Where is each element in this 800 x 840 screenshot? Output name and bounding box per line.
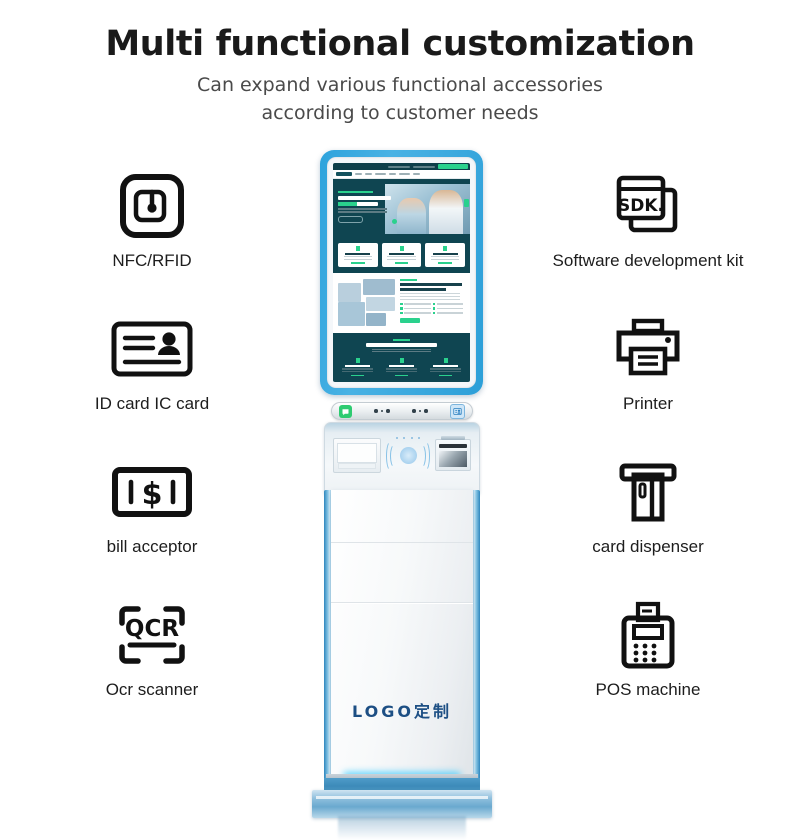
hero-paragraph: [338, 208, 387, 210]
card-title: [389, 253, 414, 255]
feature-label: Ocr scanner: [106, 680, 199, 700]
kiosk-body-panel: LOGO定制: [331, 490, 473, 786]
kiosk-floor-plate: [312, 790, 492, 818]
right-feature-column: SDK. Software development kit Printer: [518, 165, 778, 737]
nav-item[interactable]: [389, 173, 396, 175]
footer-col-text: [342, 371, 372, 372]
feature-label: Software development kit: [553, 251, 744, 271]
kiosk-reflection: [338, 816, 466, 840]
footer-icon: [444, 358, 448, 363]
status-dot: [374, 409, 378, 413]
feature-card[interactable]: [382, 243, 422, 267]
checklist-item: [400, 303, 430, 306]
about-cta-button[interactable]: [400, 318, 419, 323]
kiosk-control-bar: [331, 402, 473, 420]
feature-label: card dispenser: [592, 537, 704, 557]
hero-play-dot[interactable]: [392, 219, 397, 224]
footer-col-link[interactable]: [439, 375, 452, 377]
site-footer-section: [333, 333, 470, 382]
scan-indicator-icon[interactable]: [339, 405, 352, 418]
footer-col-text: [430, 368, 460, 369]
left-feature-column: NFC/RFID ID card IC card: [22, 165, 282, 737]
about-checklist: [400, 303, 465, 315]
card-text: [387, 259, 416, 260]
feature-label: ID card IC card: [95, 394, 209, 414]
site-hero-section: [333, 179, 470, 239]
kiosk-logo-text: LOGO定制: [331, 698, 473, 722]
nfc-core: [400, 447, 417, 464]
about-paragraph: [400, 299, 459, 300]
id-card-icon: [109, 308, 195, 390]
footer-paragraph: [372, 351, 430, 352]
nav-item[interactable]: [413, 173, 420, 175]
card-title: [345, 253, 370, 255]
sdk-icon: SDK.: [609, 165, 687, 247]
nfc-ticks: [396, 437, 420, 439]
card-link[interactable]: [438, 262, 452, 264]
feature-card[interactable]: [338, 243, 378, 267]
topbar-text: [388, 166, 410, 168]
feature-card-dispenser: card dispenser: [518, 451, 778, 594]
about-heading: [400, 283, 461, 287]
footer-kicker: [393, 339, 411, 341]
nfc-wave: [421, 441, 430, 471]
subtitle-line-2: according to customer needs: [261, 102, 538, 124]
card-icon: [356, 246, 360, 251]
status-dot: [412, 409, 416, 413]
footer-column[interactable]: [338, 358, 377, 376]
pos-machine-icon: [611, 594, 685, 676]
page-subtitle: Can expand various functional accessorie…: [0, 72, 800, 127]
site-nav: [333, 170, 470, 179]
feature-bill-acceptor: $ bill acceptor: [22, 451, 282, 594]
hero-heading-line-1: [338, 196, 391, 200]
nav-item[interactable]: [375, 173, 386, 175]
floor-highlight: [316, 796, 488, 799]
poster-canvas: Multi functional customization Can expan…: [0, 0, 800, 800]
card-link[interactable]: [395, 262, 409, 264]
footer-column[interactable]: [426, 358, 465, 376]
hero-cta-button[interactable]: [338, 216, 363, 223]
footer-heading: [366, 343, 437, 347]
checklist-item: [433, 312, 463, 315]
footer-col-text: [386, 371, 416, 372]
sdk-glyph-text: SDK.: [618, 196, 664, 216]
body-seam: [331, 542, 473, 543]
about-text-block: [400, 279, 465, 327]
dollar-glyph: $: [142, 477, 163, 512]
card-dispenser-icon: [611, 451, 685, 533]
header: Multi functional customization Can expan…: [0, 24, 800, 127]
feature-sdk: SDK. Software development kit: [518, 165, 778, 308]
hero-text-block: [338, 191, 396, 223]
kiosk-device: LOGO定制: [312, 150, 492, 800]
footer-col-link[interactable]: [351, 375, 364, 377]
page-title: Multi functional customization: [0, 24, 800, 64]
footer-icon: [400, 358, 404, 363]
site-feature-cards: [333, 239, 470, 273]
about-paragraph: [400, 296, 459, 297]
nfc-rfid-icon: [116, 165, 188, 247]
checklist-item: [400, 307, 430, 310]
card-text: [387, 256, 416, 257]
status-dot: [386, 409, 390, 413]
feature-label: Printer: [623, 394, 673, 414]
card-icon: [400, 246, 404, 251]
footer-column[interactable]: [382, 358, 421, 376]
feature-label: NFC/RFID: [112, 251, 191, 271]
bill-acceptor-icon: $: [109, 451, 195, 533]
footer-paragraph: [372, 349, 430, 350]
topbar-cta-button[interactable]: [438, 164, 468, 169]
feature-id-card: ID card IC card: [22, 308, 282, 451]
footer-col-title: [389, 365, 413, 367]
hero-kicker: [338, 191, 373, 193]
nfc-reader-module[interactable]: [386, 440, 430, 470]
kiosk-screen-bezel: [327, 157, 476, 388]
footer-col-title: [345, 365, 369, 367]
about-paragraph: [400, 293, 459, 294]
footer-col-text: [342, 368, 372, 369]
nfc-wave: [390, 444, 399, 468]
ocr-scanner-icon: QCR: [112, 594, 192, 676]
status-dot: [381, 410, 384, 413]
site-logo: [336, 172, 352, 176]
card-icon: [443, 246, 447, 251]
checklist-item: [433, 307, 463, 310]
card-text: [431, 259, 460, 260]
id-reader-icon[interactable]: [450, 404, 465, 419]
feature-printer: Printer: [518, 308, 778, 451]
nav-item[interactable]: [355, 173, 362, 175]
card-reader-slot: [439, 444, 467, 448]
footer-icon: [356, 358, 360, 363]
footer-col-link[interactable]: [395, 375, 408, 377]
card-text: [344, 256, 373, 257]
card-reader-module[interactable]: [435, 439, 471, 471]
footer-col-title: [433, 365, 457, 367]
kiosk-peripheral-panel: [324, 422, 480, 494]
status-dot: [424, 409, 428, 413]
site-about-section: [333, 273, 470, 333]
hero-side-badge: [464, 199, 469, 207]
hero-paragraph: [338, 211, 387, 213]
feature-pos-machine: POS machine: [518, 594, 778, 737]
peripheral-row: [333, 435, 471, 475]
body-seam: [331, 602, 473, 603]
card-reader-cap: [441, 436, 465, 440]
subtitle-line-1: Can expand various functional accessorie…: [197, 74, 603, 96]
checklist-item: [400, 312, 430, 315]
topbar-text: [413, 166, 435, 168]
kiosk-display-content[interactable]: [333, 163, 470, 382]
status-dots-left: [374, 409, 390, 413]
nav-item[interactable]: [365, 173, 372, 175]
feature-label: POS machine: [596, 680, 701, 700]
printer-module[interactable]: [333, 438, 381, 473]
footer-columns: [338, 358, 465, 376]
about-kicker: [400, 279, 417, 281]
card-text: [344, 259, 373, 260]
checklist-item: [433, 303, 463, 306]
card-reader-face: [439, 451, 467, 467]
about-photo-collage: [338, 279, 396, 327]
ocr-glyph-text: QCR: [125, 616, 179, 642]
footer-col-text: [386, 368, 416, 369]
hero-heading-line-2: [338, 202, 378, 206]
feature-nfc-rfid: NFC/RFID: [22, 165, 282, 308]
kiosk-body: LOGO定制: [324, 490, 480, 786]
site-topbar: [333, 163, 470, 170]
status-dots-right: [412, 409, 428, 413]
printer-icon: [609, 308, 687, 390]
card-title: [433, 253, 458, 255]
about-heading: [400, 288, 445, 292]
hero-photo: [385, 184, 470, 234]
card-link[interactable]: [351, 262, 365, 264]
kiosk-screen-unit: [320, 150, 483, 395]
nav-item[interactable]: [399, 173, 410, 175]
feature-ocr-scanner: QCR Ocr scanner: [22, 594, 282, 737]
footer-col-text: [430, 371, 460, 372]
card-text: [431, 256, 460, 257]
feature-card[interactable]: [425, 243, 465, 267]
status-dot: [419, 410, 422, 413]
feature-label: bill acceptor: [107, 537, 198, 557]
